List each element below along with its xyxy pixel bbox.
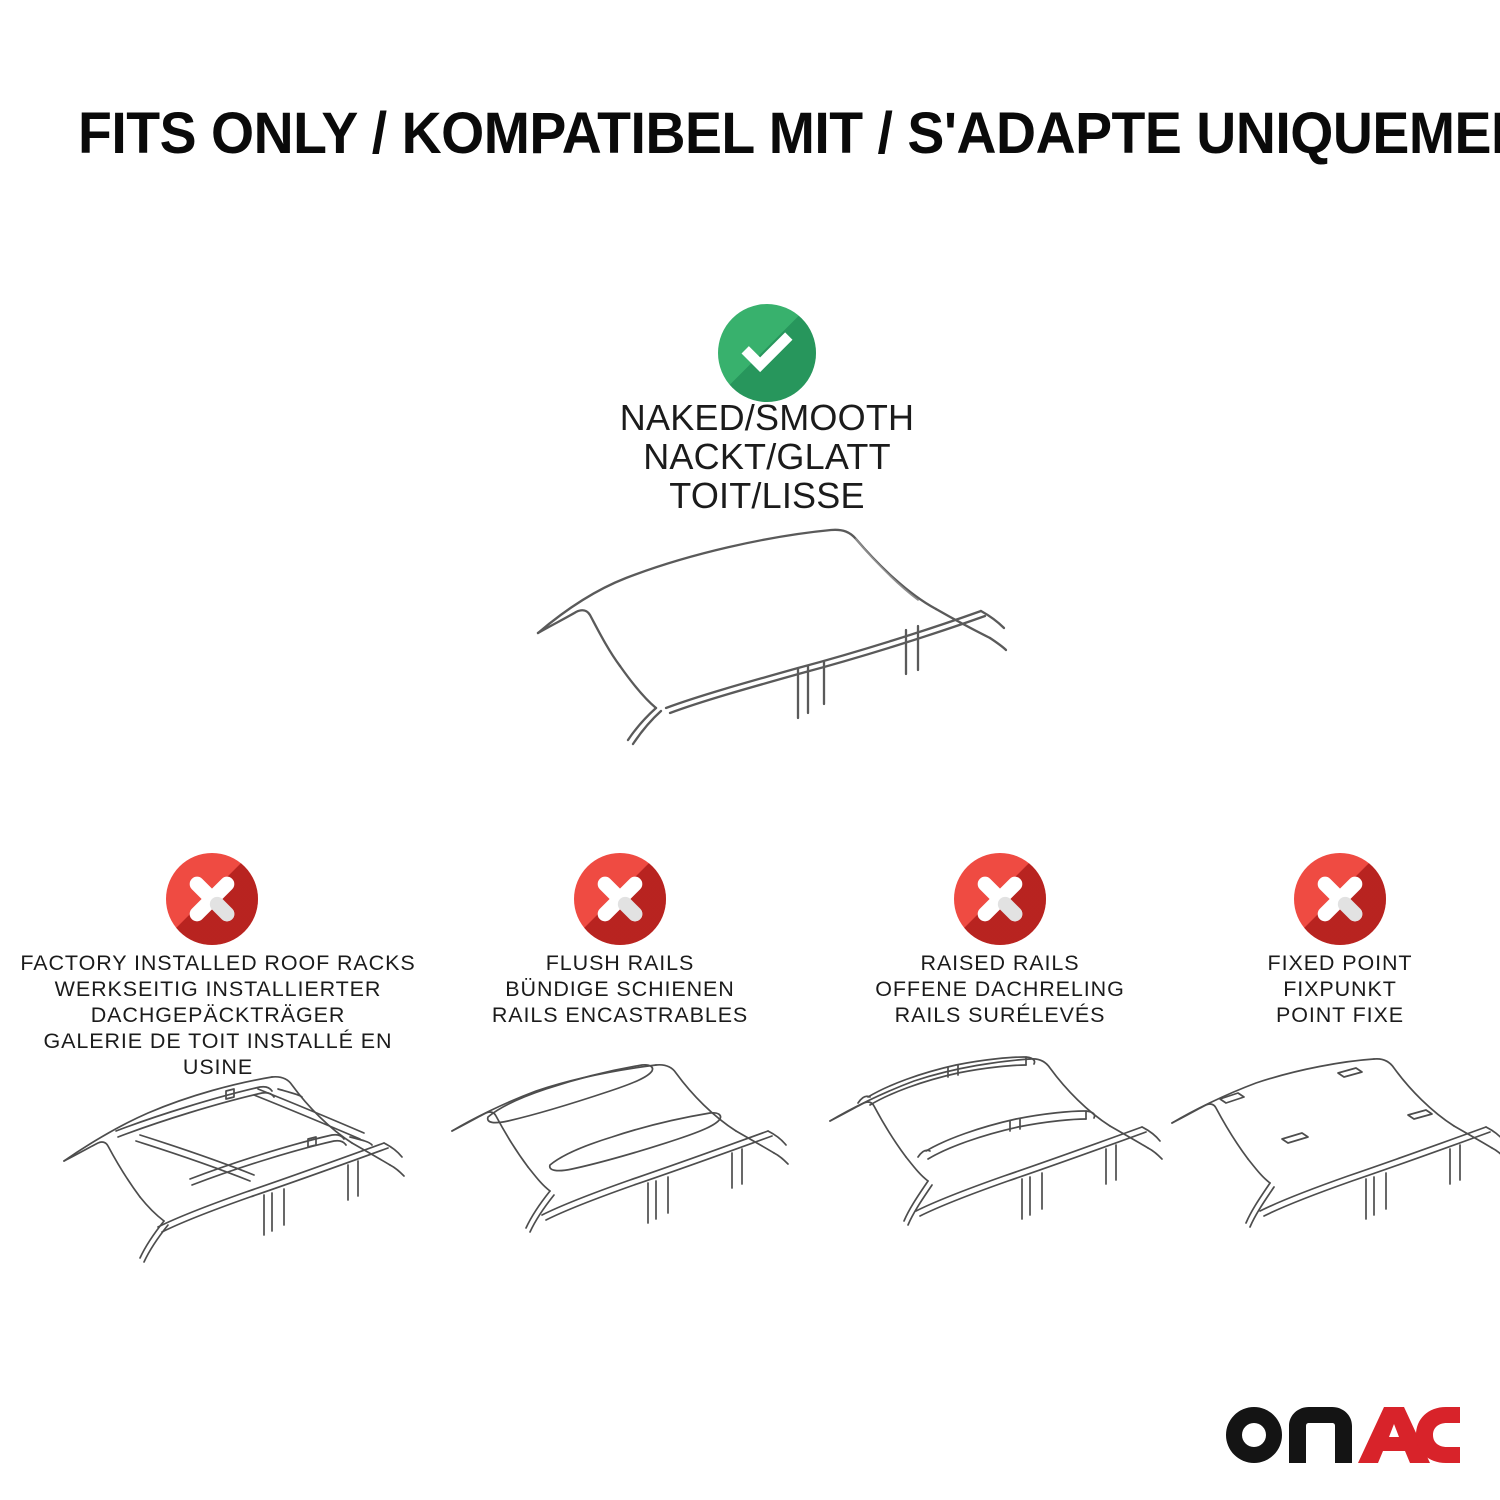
x-icon	[1294, 853, 1386, 945]
caption-line: NAKED/SMOOTH	[552, 398, 982, 437]
caption-line: FACTORY INSTALLED ROOF RACKS	[18, 950, 418, 976]
caption-line: FIXED POINT	[1140, 950, 1500, 976]
car-roof-factory-rack-illustration	[40, 1055, 440, 1295]
check-icon	[718, 304, 816, 402]
omac-logo-dark	[1226, 1407, 1352, 1463]
caption-line: WERKSEITIG INSTALLIERTER	[18, 976, 418, 1002]
caption-line: BÜNDIGE SCHIENEN	[420, 976, 820, 1002]
x-glyph	[574, 853, 666, 945]
page-title: FITS ONLY / KOMPATIBEL MIT / S'ADAPTE UN…	[78, 104, 1377, 165]
incompatible-caption-4: FIXED POINT FIXPUNKT POINT FIXE	[1140, 950, 1500, 1028]
incompatible-caption-2: FLUSH RAILS BÜNDIGE SCHIENEN RAILS ENCAS…	[420, 950, 820, 1028]
x-glyph	[166, 853, 258, 945]
omac-logo-red	[1358, 1407, 1460, 1463]
caption-line: DACHGEPÄCKTRÄGER	[18, 1002, 418, 1028]
caption-line: POINT FIXE	[1140, 1002, 1500, 1028]
check-glyph	[718, 304, 816, 402]
car-roof-fixed-point-illustration	[1162, 1055, 1500, 1295]
caption-line: FIXPUNKT	[1140, 976, 1500, 1002]
x-icon	[166, 853, 258, 945]
caption-line: FLUSH RAILS	[420, 950, 820, 976]
caption-line: RAILS ENCASTRABLES	[420, 1002, 820, 1028]
car-roof-smooth-illustration	[498, 508, 1038, 808]
caption-line: NACKT/GLATT	[552, 437, 982, 476]
compatible-caption: NAKED/SMOOTH NACKT/GLATT TOIT/LISSE	[552, 398, 982, 515]
omac-logo	[1224, 1404, 1460, 1466]
x-glyph	[1294, 853, 1386, 945]
x-icon	[574, 853, 666, 945]
car-roof-flush-rails-illustration	[442, 1055, 842, 1295]
x-glyph	[954, 853, 1046, 945]
x-icon	[954, 853, 1046, 945]
